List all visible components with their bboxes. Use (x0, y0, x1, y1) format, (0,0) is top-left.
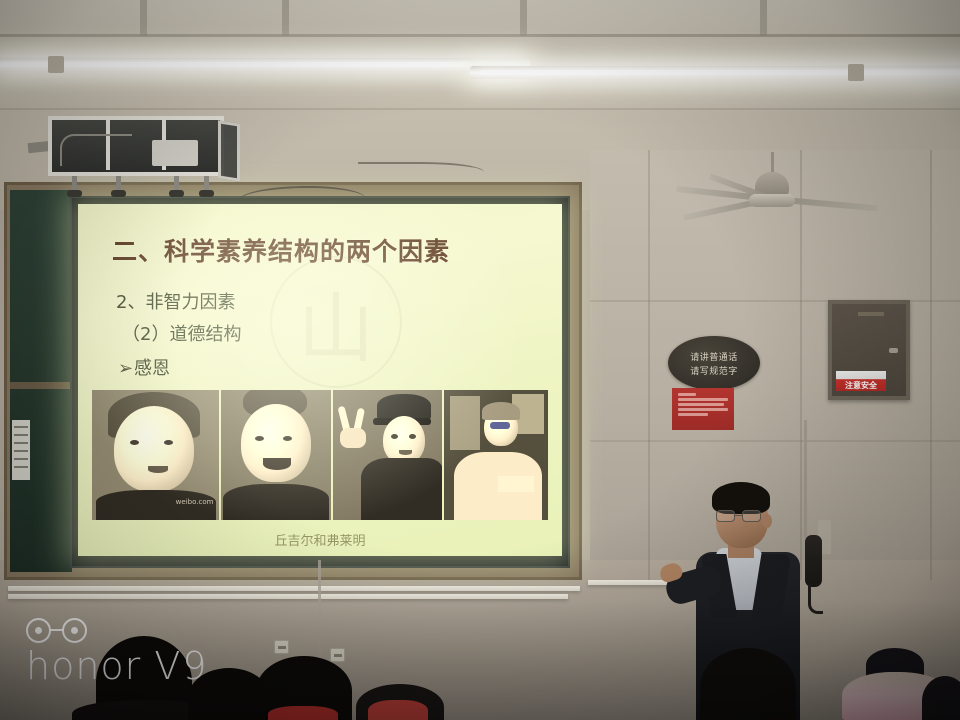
panel-vent (858, 312, 884, 316)
safety-warning-label: 注意安全 (836, 371, 886, 391)
wall-outlet[interactable] (330, 648, 345, 662)
panel-latch[interactable] (889, 348, 898, 353)
slide-line-2: （2）道德结构 (122, 320, 241, 346)
fluorescent-tube-core (480, 70, 960, 75)
overhead-cable (358, 162, 484, 182)
wall-seam (648, 150, 650, 580)
cage-foot (67, 190, 82, 197)
cage-foot (169, 190, 184, 197)
wall-seam (930, 150, 932, 580)
photo-source-mark: weibo.com (176, 498, 214, 506)
wall-outlet[interactable] (274, 640, 289, 654)
ceiling-projector-cage (48, 116, 240, 188)
bullet-arrow-icon: ➢ (118, 358, 134, 379)
slide-line-3-label: 感恩 (134, 358, 170, 379)
cage-foot (199, 190, 214, 197)
wall-seam (0, 108, 960, 110)
list-item (700, 648, 796, 720)
slide-title: 二、科学素养结构的两个因素 (112, 232, 450, 268)
oval-sign-line-2: 请写规范字 (690, 364, 738, 377)
classroom-photo: 山 二、科学素养结构的两个因素 2、非智力因素 （2）道德结构 ➢感恩 weib… (0, 0, 960, 720)
wall-seam (590, 440, 960, 442)
lecturer-glasses (716, 510, 764, 523)
safety-warning-text: 注意安全 (845, 380, 877, 391)
electrical-panel-box[interactable]: 注意安全 (828, 300, 910, 400)
slide-line-1: 2、非智力因素 (116, 288, 235, 314)
wall-conduit (318, 560, 321, 660)
slide-watermark-glyph: 山 (272, 258, 400, 386)
projector-body (152, 140, 198, 166)
list-item (444, 390, 548, 520)
list-item (333, 390, 443, 520)
ceiling-rib (760, 0, 767, 36)
chalk-rail (8, 586, 580, 591)
list-item (922, 676, 960, 720)
slide-logo-watermark: 山 (270, 256, 402, 388)
slide-photo-strip: weibo.com (92, 390, 548, 520)
fluorescent-tube-core (0, 62, 520, 67)
ceiling-rib (282, 0, 289, 36)
slide-caption: 丘吉尔和弗莱明 (78, 530, 562, 549)
cage-foot (111, 190, 126, 197)
mandarin-notice-sign: 请讲普通话 请写规范字 (668, 336, 760, 390)
chalk-rail-segment (10, 382, 72, 389)
audience-scarf (368, 700, 428, 720)
ceiling-rib (140, 0, 147, 36)
red-notice-placard (672, 388, 734, 430)
oval-sign-line-1: 请讲普通话 (690, 350, 738, 363)
board-notice-paper (12, 420, 30, 480)
cage-side-panel (218, 120, 240, 181)
ceiling-rib (520, 0, 527, 36)
projection-screen: 山 二、科学素养结构的两个因素 2、非智力因素 （2）道德结构 ➢感恩 weib… (78, 204, 562, 556)
ceiling-fan-hub (749, 194, 795, 207)
chalk-rail (8, 594, 568, 599)
tube-bracket (48, 56, 64, 73)
slide-line-3: ➢感恩 (118, 354, 170, 380)
projector-cables (60, 134, 132, 166)
green-chalkboard-panel (10, 190, 72, 572)
tube-bracket (848, 64, 864, 81)
list-item: weibo.com (92, 390, 219, 520)
list-item (221, 390, 331, 520)
audience-scarf (268, 706, 338, 720)
